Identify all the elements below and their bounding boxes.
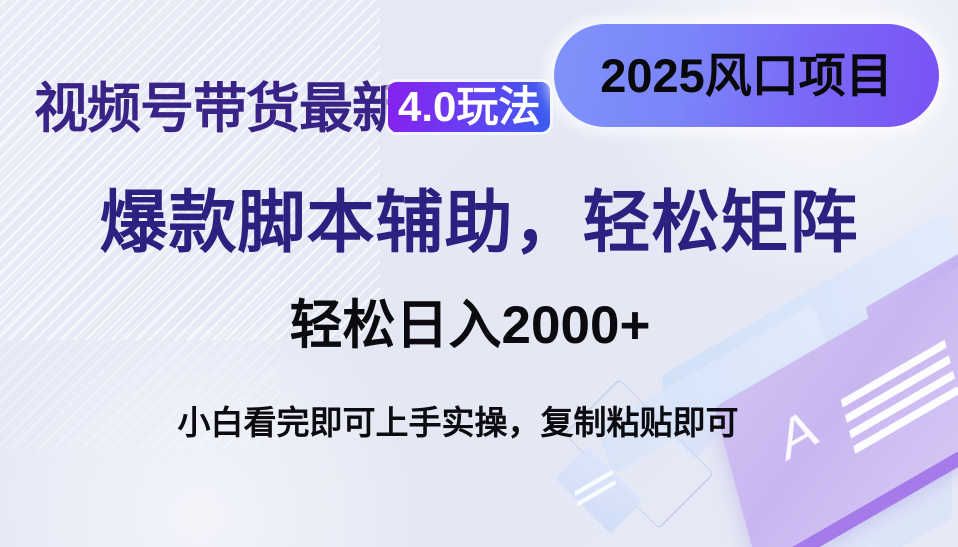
subheadline-line: 爆款脚本辅助，轻松矩阵 (0, 180, 958, 266)
corner-badge: 2025风口项目 (554, 24, 939, 127)
iso-diamond-text-lines (574, 470, 618, 513)
promo-poster: A 视频号带货最新 4.0玩法 2025风口项目 爆款脚本辅助，轻松矩阵 轻松日… (0, 0, 958, 547)
diagonal-stripe-pattern (0, 0, 380, 340)
iso-diamond-document (555, 446, 642, 533)
corner-badge-label: 2025风口项目 (600, 52, 893, 99)
income-claim-line: 轻松日入2000+ (0, 293, 958, 359)
version-badge: 4.0玩法 (388, 82, 550, 132)
headline-primary-text: 视频号带货最新 (34, 78, 405, 140)
description-line: 小白看完即可上手实操，复制粘贴即可 (0, 400, 958, 446)
